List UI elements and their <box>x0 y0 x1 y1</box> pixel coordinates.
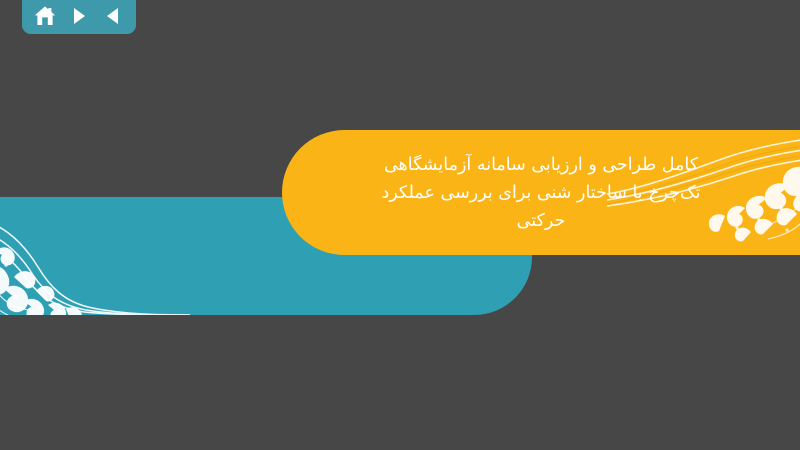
title-line-2: تک‌چرخ با ساختار شنی برای بررسی عملکرد <box>381 179 700 207</box>
next-slide-button[interactable] <box>64 1 94 31</box>
back-arrow-icon <box>102 5 124 27</box>
slide-navigation-bar <box>22 0 136 34</box>
title-line-1: کامل طراحی و ارزیابی سامانه آزمایشگاهی <box>384 151 698 179</box>
home-icon <box>33 4 57 28</box>
arabesque-ornament-teal <box>0 197 190 315</box>
slide-title: کامل طراحی و ارزیابی سامانه آزمایشگاهی ت… <box>282 130 800 255</box>
slide-canvas: کامل طراحی و ارزیابی سامانه آزمایشگاهی ت… <box>0 0 800 450</box>
orange-title-banner: کامل طراحی و ارزیابی سامانه آزمایشگاهی ت… <box>282 130 800 255</box>
previous-slide-button[interactable] <box>98 1 128 31</box>
forward-arrow-icon <box>68 5 90 27</box>
home-slide-button[interactable] <box>30 1 60 31</box>
title-line-3: حرکتی <box>517 207 566 235</box>
